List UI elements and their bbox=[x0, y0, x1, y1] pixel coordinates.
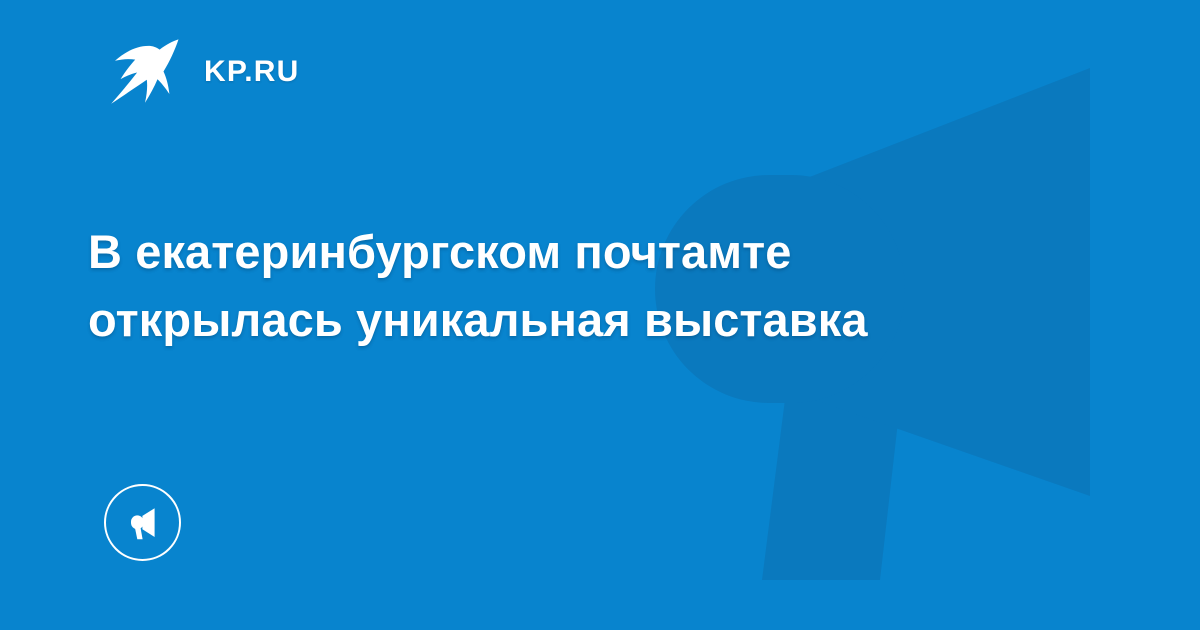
megaphone-badge[interactable] bbox=[104, 484, 181, 561]
headline: В екатеринбургском почтамте открылась ун… bbox=[88, 218, 1098, 354]
headline-line-1: В екатеринбургском почтамте bbox=[88, 218, 1098, 286]
brand-wordmark: KP.RU bbox=[204, 57, 299, 87]
headline-line-2: открылась уникальная выставка bbox=[88, 286, 1098, 354]
swallow-bird-icon bbox=[108, 36, 182, 108]
news-share-card: KP.RU В екатеринбургском почтамте открыл… bbox=[0, 0, 1200, 630]
megaphone-icon bbox=[123, 503, 163, 543]
brand-logo[interactable]: KP.RU bbox=[108, 36, 299, 108]
